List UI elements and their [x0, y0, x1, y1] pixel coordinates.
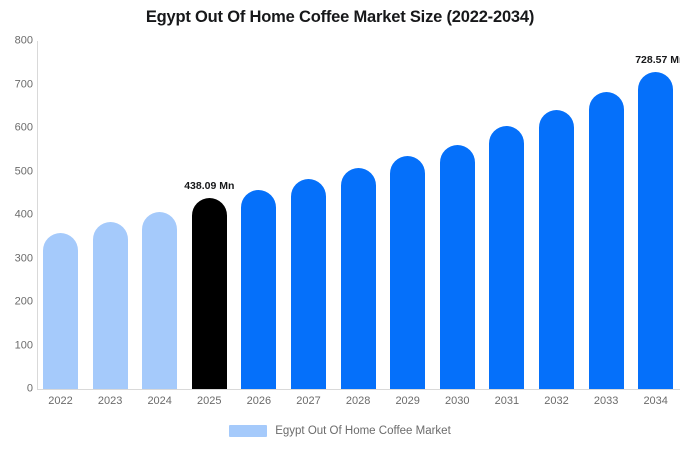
chart-bar[interactable]	[589, 92, 624, 389]
chart-bar[interactable]	[489, 126, 524, 389]
chart-bar[interactable]	[390, 156, 425, 389]
chart-bar[interactable]	[341, 168, 376, 389]
bar-slot	[43, 41, 78, 389]
bar-value-label: 728.57 Mn	[635, 55, 680, 66]
bar-slot	[390, 41, 425, 389]
y-axis-tick: 0	[3, 384, 33, 395]
x-axis-tick: 2034	[634, 396, 678, 407]
y-axis-tick: 400	[3, 210, 33, 221]
bar-slot	[440, 41, 475, 389]
chart-bar[interactable]	[539, 110, 574, 389]
chart-legend: Egypt Out Of Home Coffee Market	[0, 425, 680, 437]
y-axis-tick: 200	[3, 297, 33, 308]
y-axis-tick: 600	[3, 123, 33, 134]
x-axis-tick: 2025	[187, 396, 231, 407]
chart-bar[interactable]	[241, 190, 276, 389]
y-axis-tick: 500	[3, 166, 33, 177]
x-axis-tick-labels: 2022202320242025202620272028202920302031…	[37, 392, 680, 412]
y-axis-tick: 300	[3, 253, 33, 264]
x-axis-tick: 2027	[287, 396, 331, 407]
chart-bar[interactable]	[192, 198, 227, 389]
chart-bar[interactable]	[291, 179, 326, 389]
legend-swatch-icon	[229, 425, 267, 437]
x-axis-tick: 2029	[386, 396, 430, 407]
x-axis-tick: 2028	[336, 396, 380, 407]
x-axis-tick: 2026	[237, 396, 281, 407]
y-axis-tick: 800	[3, 36, 33, 47]
bar-slot: 728.57 Mn	[638, 41, 673, 389]
legend-label: Egypt Out Of Home Coffee Market	[275, 425, 451, 437]
bar-slot	[93, 41, 128, 389]
y-axis-tick: 700	[3, 79, 33, 90]
chart-bar[interactable]	[440, 145, 475, 389]
x-axis-tick: 2032	[535, 396, 579, 407]
legend-item[interactable]: Egypt Out Of Home Coffee Market	[229, 425, 451, 437]
y-axis-tick-labels: 8007006005004003002001000	[0, 41, 33, 389]
x-axis-tick: 2033	[584, 396, 628, 407]
bar-slot	[341, 41, 376, 389]
chart-bar[interactable]	[142, 212, 177, 389]
bar-slot	[489, 41, 524, 389]
x-axis-tick: 2031	[485, 396, 529, 407]
x-axis-tick: 2024	[138, 396, 182, 407]
x-axis-tick: 2022	[39, 396, 83, 407]
chart-bar[interactable]	[43, 233, 78, 389]
y-axis-tick: 100	[3, 340, 33, 351]
x-axis-tick: 2030	[435, 396, 479, 407]
bar-slot: 438.09 Mn	[192, 41, 227, 389]
chart-bar[interactable]	[638, 72, 673, 389]
x-axis-line	[37, 389, 680, 390]
bar-slot	[539, 41, 574, 389]
plot-area: 438.09 Mn728.57 Mn	[37, 41, 680, 389]
bar-slot	[291, 41, 326, 389]
bar-slot	[241, 41, 276, 389]
bar-value-label: 438.09 Mn	[184, 181, 234, 192]
chart-bar[interactable]	[93, 222, 128, 389]
chart-title: Egypt Out Of Home Coffee Market Size (20…	[0, 8, 680, 27]
bar-slot	[142, 41, 177, 389]
chart-container: Egypt Out Of Home Coffee Market Size (20…	[0, 0, 680, 450]
x-axis-tick: 2023	[88, 396, 132, 407]
bar-slot	[589, 41, 624, 389]
